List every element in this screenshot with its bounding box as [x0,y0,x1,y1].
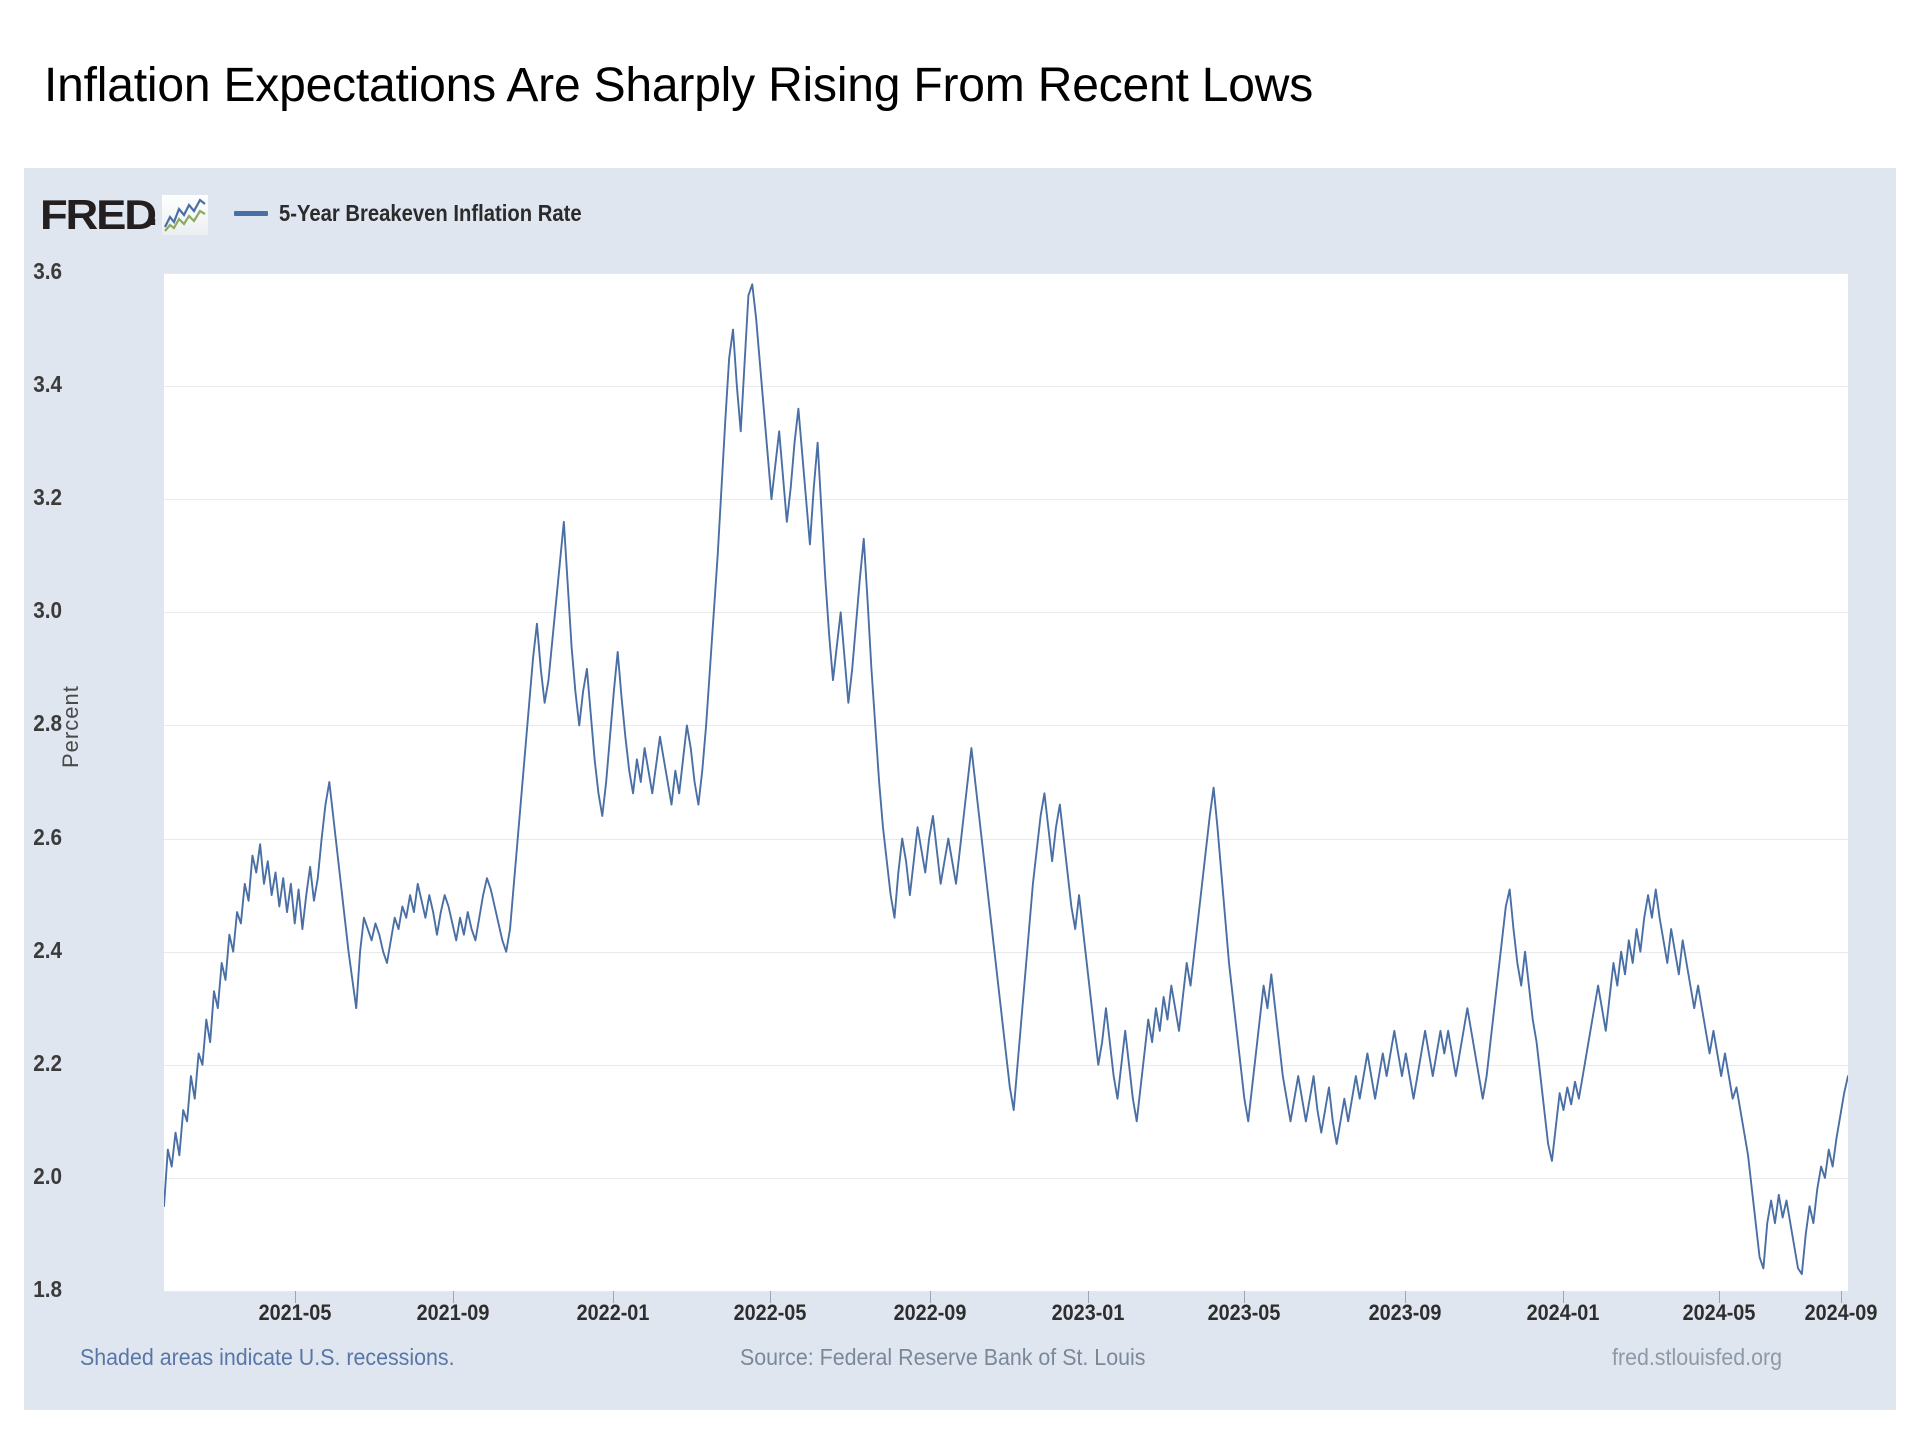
y-axis-tick-label: 3.4 [0,371,62,398]
fred-wordmark: FRED [40,195,155,235]
x-axis-tick-label: 2023-09 [1368,1300,1441,1326]
page-title: Inflation Expectations Are Sharply Risin… [44,58,1313,113]
y-axis-tick-label: 1.8 [0,1276,62,1303]
legend-series-label: 5-Year Breakeven Inflation Rate [279,200,582,227]
chart-footer: Shaded areas indicate U.S. recessions. S… [24,1344,1896,1384]
plot-area [164,273,1848,1291]
x-axis-tick-label: 2023-01 [1052,1300,1125,1326]
line-chart-icon [162,195,208,235]
y-axis-tick-label: 2.4 [0,937,62,964]
y-axis-tick-label: 2.0 [0,1163,62,1190]
x-axis-tick-label: 2022-01 [577,1300,650,1326]
fred-logo: FRED . [40,191,208,235]
x-axis-tick-label: 2024-01 [1527,1300,1600,1326]
fred-chart-panel: FRED . 5-Year Breakeven Inflation Rate P… [24,168,1896,1410]
y-axis-tick-label: 2.6 [0,824,62,851]
x-axis-tick-label: 2022-09 [894,1300,967,1326]
x-axis-tick-label: 2024-09 [1804,1300,1877,1326]
series-5-year-breakeven-inflation-rate [164,273,1848,1291]
y-axis-tick-label: 2.8 [0,710,62,737]
x-axis-tick-label: 2024-05 [1683,1300,1756,1326]
footer-recessions-note: Shaded areas indicate U.S. recessions. [80,1344,455,1371]
x-axis-tick-label: 2021-05 [258,1300,331,1326]
plot-wrapper [164,273,1848,1291]
y-axis-tick-label: 3.0 [0,597,62,624]
y-axis-tick-label: 3.2 [0,484,62,511]
chart-legend: 5-Year Breakeven Inflation Rate [234,200,623,227]
legend-color-swatch [234,211,268,216]
x-axis-tick-label: 2023-05 [1208,1300,1281,1326]
x-axis-tick-label: 2022-05 [733,1300,806,1326]
y-axis-tick-label: 3.6 [0,258,62,285]
footer-url-link[interactable]: fred.stlouisfed.org [1612,1344,1782,1371]
chart-header: FRED . 5-Year Breakeven Inflation Rate [40,184,623,242]
x-axis-tick-label: 2021-09 [417,1300,490,1326]
gridline [164,1291,1848,1292]
footer-source-note: Source: Federal Reserve Bank of St. Loui… [740,1344,1145,1371]
y-axis-tick-label: 2.2 [0,1050,62,1077]
